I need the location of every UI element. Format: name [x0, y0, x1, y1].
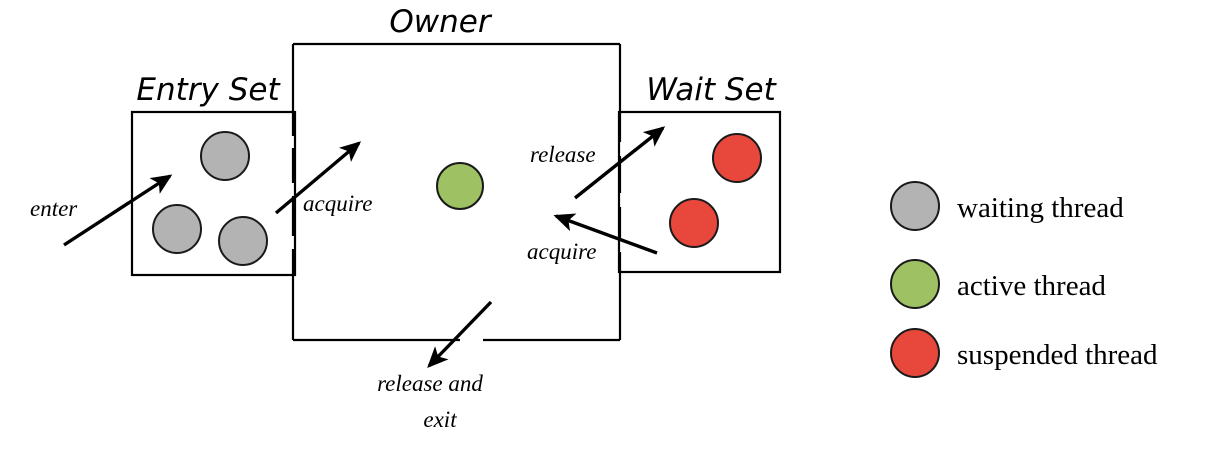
legend-suspended-label: suspended thread [957, 339, 1158, 371]
release-and-exit-label: release and [377, 371, 483, 396]
monitor-diagram: Entry Set Wait Set [0, 0, 1231, 450]
acquire-wait-label: acquire [527, 239, 596, 264]
legend-waiting-icon [891, 182, 939, 230]
release-and-exit-arrow [429, 302, 491, 366]
legend-item-active: active thread [891, 260, 1106, 308]
owner-box-group: Owner [293, 4, 620, 340]
suspended-thread-circle [670, 199, 718, 247]
entry-set-group: Entry Set [132, 72, 295, 275]
wait-set-title: Wait Set [646, 72, 777, 108]
diagram-canvas: Entry Set Wait Set [0, 0, 1231, 450]
legend: waiting thread active thread suspended t… [891, 182, 1158, 377]
legend-waiting-label: waiting thread [957, 192, 1124, 224]
legend-active-label: active thread [957, 270, 1106, 302]
waiting-thread-circle [153, 205, 201, 253]
wait-set-group: Wait Set [619, 72, 780, 272]
waiting-thread-circle [201, 132, 249, 180]
acquire-entry-label: acquire [303, 191, 372, 216]
legend-suspended-icon [891, 329, 939, 377]
release-label: release [530, 142, 596, 167]
legend-active-icon [891, 260, 939, 308]
entry-set-title: Entry Set [136, 72, 281, 108]
arrows-group: enter acquire release acquire release an… [30, 128, 663, 432]
suspended-thread-circle [713, 134, 761, 182]
legend-item-waiting: waiting thread [891, 182, 1124, 230]
release-and-exit-label-line2: exit [423, 407, 457, 432]
legend-item-suspended: suspended thread [891, 329, 1158, 377]
enter-label: enter [30, 196, 78, 221]
owner-title: Owner [389, 4, 492, 40]
active-thread-circle [437, 163, 483, 209]
waiting-thread-circle [219, 217, 267, 265]
